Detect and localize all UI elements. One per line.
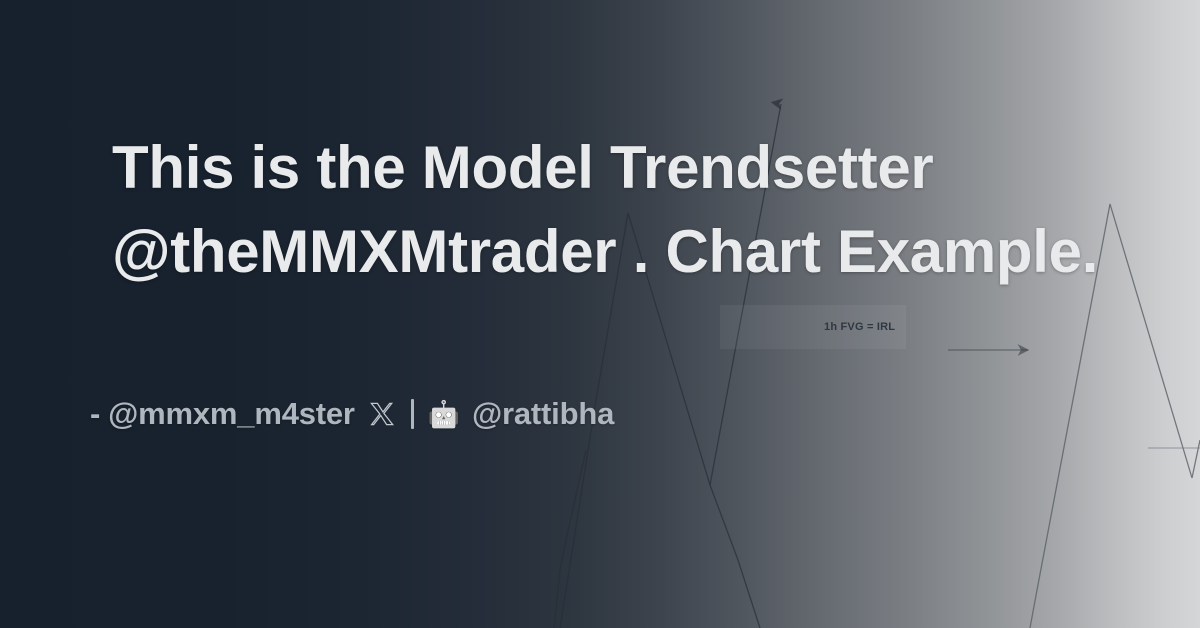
attribution-separator [411, 399, 414, 429]
attribution-line: - @mmxm_m4ster 🤖 @rattibha [90, 396, 614, 432]
card-content: This is the Model Trendsetter @theMMXMtr… [0, 0, 1200, 628]
platform-handle[interactable]: @rattibha [472, 396, 614, 432]
attribution-dash: - [90, 396, 100, 432]
headline-line-1: This is the Model Trendsetter [112, 126, 1092, 210]
x-logo-icon[interactable] [369, 401, 395, 427]
headline: This is the Model Trendsetter @theMMXMtr… [112, 126, 1092, 294]
rattibha-tweet-card: 1h FVG = IRL This is the Model Trendsett… [0, 0, 1200, 628]
robot-icon: 🤖 [428, 401, 460, 427]
headline-line-2: @theMMXMtrader . Chart Example. [112, 210, 1092, 294]
author-handle[interactable]: @mmxm_m4ster [108, 396, 355, 432]
